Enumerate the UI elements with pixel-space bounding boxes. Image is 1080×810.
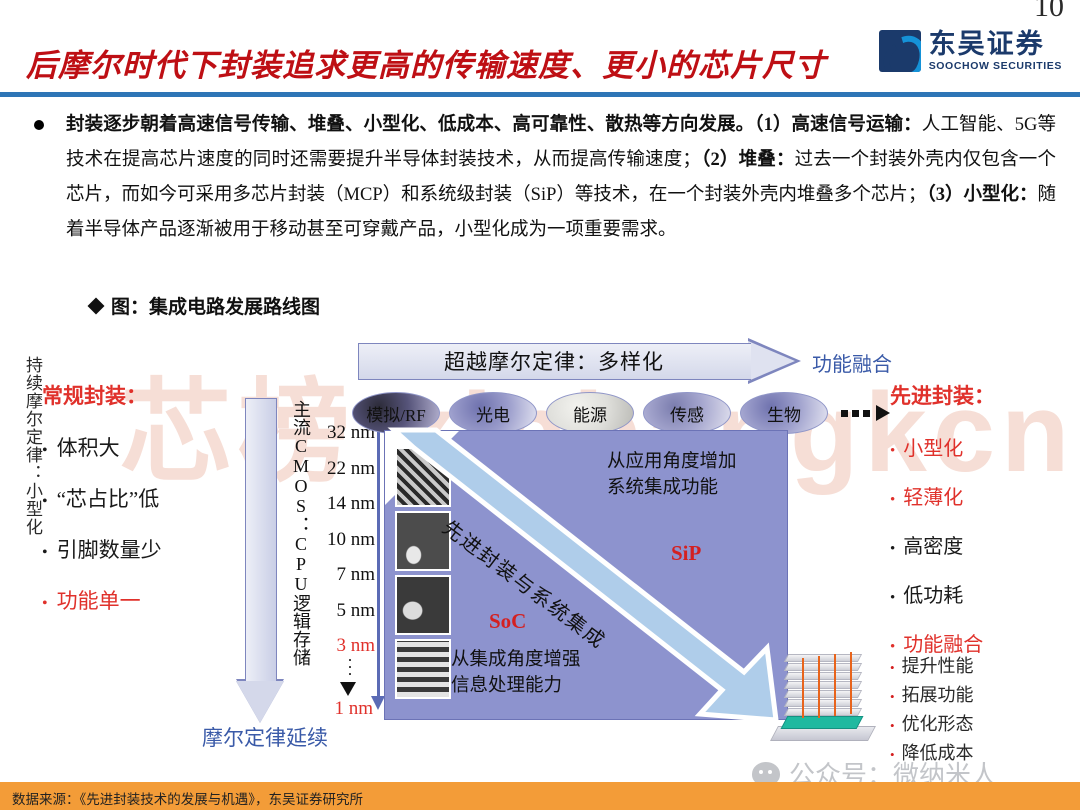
brand-name-cn: 东吴证券 bbox=[929, 31, 1062, 58]
figure-caption: 图：集成电路发展路线图 bbox=[90, 292, 320, 319]
list-item: • “芯占比”低 bbox=[42, 483, 237, 513]
page-number: 10 bbox=[1034, 0, 1064, 24]
right-panel-title: 先进封装： bbox=[890, 380, 1070, 410]
brand-text: 东吴证券 SOOCHOW SECURITIES bbox=[929, 31, 1062, 72]
list-item-label: 体积大 bbox=[57, 432, 120, 462]
ellipsis-arrow-icon bbox=[841, 405, 890, 421]
list-item: • 小型化 bbox=[890, 432, 1070, 461]
label-soc: SoC bbox=[489, 609, 526, 634]
page-header: 后摩尔时代下封装追求更高的传输速度、更小的芯片尺寸 东吴证券 SOOCHOW S… bbox=[0, 0, 1080, 96]
bullet-icon: • bbox=[890, 690, 895, 703]
bullet-icon: • bbox=[890, 493, 895, 508]
list-item-label: 轻薄化 bbox=[903, 481, 963, 510]
top-arrow-label: 超越摩尔定律：多样化 bbox=[358, 343, 750, 378]
list-item-label: 引脚数量少 bbox=[57, 534, 162, 564]
moore-law-down-arrow bbox=[236, 398, 284, 728]
oval-item: 传感 bbox=[643, 392, 731, 434]
page-title: 后摩尔时代下封装追求更高的传输速度、更小的芯片尺寸 bbox=[26, 40, 826, 85]
list-item-label: 拓展功能 bbox=[902, 681, 974, 707]
diamond-bullet-icon bbox=[88, 297, 105, 314]
scale-final-value: 1 nm bbox=[303, 698, 373, 720]
body-paragraph-block: 封装逐步朝着高速信号传输、堆叠、小型化、低成本、高可靠性、散热等方向发展。（1）… bbox=[26, 108, 1056, 248]
label-sip: SiP bbox=[671, 541, 701, 566]
sem-micrograph-4 bbox=[395, 639, 451, 699]
list-item: • 功能融合 bbox=[890, 628, 1070, 657]
through-via bbox=[818, 656, 820, 718]
header-divider bbox=[0, 92, 1080, 97]
oval-item: 能源 bbox=[546, 392, 634, 434]
bullet-icon: • bbox=[42, 596, 48, 612]
scale-values-list: 32 nm 22 nm 14 nm 10 nm 7 nm 5 nm 3 nm bbox=[305, 422, 375, 671]
bullet-icon: • bbox=[890, 591, 895, 606]
down-arrow-label: 持续摩尔定律：小型化 bbox=[5, 356, 45, 536]
bullet-icon: • bbox=[890, 719, 895, 732]
list-item: • 体积大 bbox=[42, 432, 237, 462]
scale-ellipsis-icon: ... bbox=[340, 652, 360, 673]
list-item: • 引脚数量少 bbox=[42, 534, 237, 564]
figure-caption-text: 图：集成电路发展路线图 bbox=[111, 292, 320, 319]
list-item-label: 优化形态 bbox=[902, 710, 974, 736]
moore-continue-label: 摩尔定律延续 bbox=[190, 722, 340, 752]
brand-name-en: SOOCHOW SECURITIES bbox=[929, 61, 1062, 72]
chip-board bbox=[781, 716, 864, 729]
sem-micrograph-3 bbox=[395, 575, 451, 635]
through-via bbox=[850, 652, 852, 714]
through-via bbox=[802, 658, 804, 718]
oval-item: 光电 bbox=[449, 392, 537, 434]
scale-value: 5 nm bbox=[305, 600, 375, 622]
body-paragraph: 封装逐步朝着高速信号传输、堆叠、小型化、低成本、高可靠性、散热等方向发展。（1）… bbox=[66, 108, 1056, 248]
list-item-label: “芯占比”低 bbox=[57, 483, 160, 513]
thin-down-arrow-icon bbox=[371, 422, 385, 714]
scale-arrow-down-icon bbox=[340, 682, 356, 696]
scale-value: 7 nm bbox=[305, 564, 375, 586]
list-item: • 轻薄化 bbox=[890, 481, 1070, 510]
scale-value: 14 nm bbox=[305, 493, 375, 515]
bullet-icon: • bbox=[890, 640, 895, 655]
arrow-head-icon bbox=[748, 341, 795, 381]
integration-center-box: 从应用角度增加系统集成功能 SiP SoC 从集成角度增强信息处理能力 bbox=[384, 430, 788, 720]
left-panel-title: 常规封装： bbox=[42, 380, 237, 410]
scale-value: 10 nm bbox=[305, 529, 375, 551]
arrow-head-icon bbox=[236, 681, 284, 723]
bullet-icon: • bbox=[890, 542, 895, 557]
scale-value: 22 nm bbox=[305, 458, 375, 480]
list-item: • 拓展功能 bbox=[890, 681, 974, 707]
list-item-label: 小型化 bbox=[903, 432, 963, 461]
list-item-label: 低功耗 bbox=[903, 579, 963, 608]
stacked-chip-illustration bbox=[772, 652, 882, 744]
center-text-top: 从应用角度增加系统集成功能 bbox=[607, 449, 737, 501]
bullet-icon: • bbox=[42, 545, 48, 561]
list-item: • 高密度 bbox=[890, 530, 1070, 559]
list-item: • 低功耗 bbox=[890, 579, 1070, 608]
list-item-label: 高密度 bbox=[903, 530, 963, 559]
function-fusion-label: 功能融合 bbox=[812, 348, 892, 377]
page-footer: 数据来源：《先进封装技术的发展与机遇》，东吴证券研究所 bbox=[0, 782, 1080, 810]
advanced-packaging-panel: 先进封装： • 小型化 • 轻薄化 • 高密度 • 低功耗 • 功能融合 bbox=[890, 380, 1070, 677]
arrow-shaft bbox=[245, 398, 277, 681]
bullet-icon: • bbox=[890, 444, 895, 459]
sem-micrograph-2 bbox=[395, 511, 451, 571]
roadmap-figure: 芯榜 xinbangkcn 常规封装： • 体积大 • “芯占比”低 • 引脚数… bbox=[0, 330, 1080, 778]
center-text-bottom: 从集成角度增强信息处理能力 bbox=[451, 647, 581, 699]
list-item: • 功能单一 bbox=[42, 585, 237, 615]
list-item-label: 功能单一 bbox=[57, 585, 141, 615]
list-item: • 优化形态 bbox=[890, 710, 974, 736]
sem-micrograph-1 bbox=[395, 447, 451, 507]
bullet-dot-icon bbox=[34, 120, 44, 130]
list-item-label: 功能融合 bbox=[903, 628, 983, 657]
brand-logo: 东吴证券 SOOCHOW SECURITIES bbox=[879, 30, 1062, 72]
beyond-moore-arrow: 超越摩尔定律：多样化 bbox=[358, 338, 803, 384]
through-via bbox=[834, 654, 836, 716]
footer-source: 数据来源：《先进封装技术的发展与机遇》，东吴证券研究所 bbox=[12, 788, 363, 808]
soochow-logo-icon bbox=[879, 30, 921, 72]
oval-item: 模拟/RF bbox=[352, 392, 440, 434]
technology-ovals-row: 模拟/RF 光电 能源 传感 生物 bbox=[352, 392, 890, 434]
conventional-packaging-panel: 常规封装： • 体积大 • “芯占比”低 • 引脚数量少 • 功能单一 bbox=[42, 380, 237, 636]
oval-item: 生物 bbox=[740, 392, 828, 434]
